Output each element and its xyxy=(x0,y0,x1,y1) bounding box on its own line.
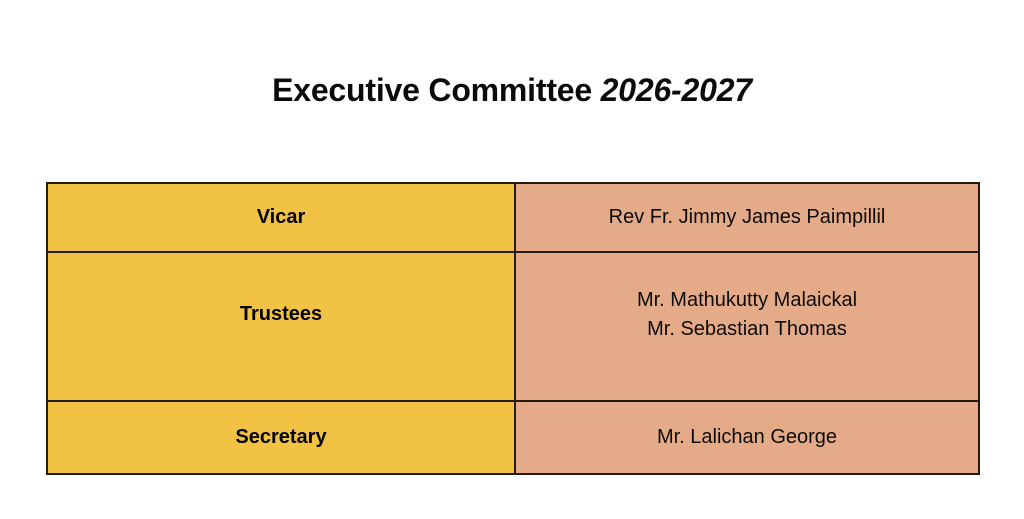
role-cell-vicar: Vicar xyxy=(47,183,515,252)
slide-page: Executive Committee 2026-2027 Vicar Rev … xyxy=(0,0,1024,519)
name-line: Rev Fr. Jimmy James Paimpillil xyxy=(522,203,972,231)
name-line: Mr. Lalichan George xyxy=(522,423,972,451)
table-row: Secretary Mr. Lalichan George xyxy=(47,401,979,474)
name-cell-vicar: Rev Fr. Jimmy James Paimpillil xyxy=(515,183,979,252)
page-title-years: 2026-2027 xyxy=(601,72,752,108)
name-line: Mr. Sebastian Thomas xyxy=(522,315,972,343)
page-title: Executive Committee 2026-2027 xyxy=(0,72,1024,109)
role-cell-secretary: Secretary xyxy=(47,401,515,474)
name-cell-trustees: Mr. Mathukutty Malaickal Mr. Sebastian T… xyxy=(515,252,979,401)
table-row: Vicar Rev Fr. Jimmy James Paimpillil xyxy=(47,183,979,252)
page-title-main: Executive Committee xyxy=(272,72,601,108)
table-row: Trustees Mr. Mathukutty Malaickal Mr. Se… xyxy=(47,252,979,401)
name-cell-secretary: Mr. Lalichan George xyxy=(515,401,979,474)
role-cell-trustees: Trustees xyxy=(47,252,515,401)
executive-committee-table: Vicar Rev Fr. Jimmy James Paimpillil Tru… xyxy=(46,182,980,475)
name-line: Mr. Mathukutty Malaickal xyxy=(522,286,972,314)
